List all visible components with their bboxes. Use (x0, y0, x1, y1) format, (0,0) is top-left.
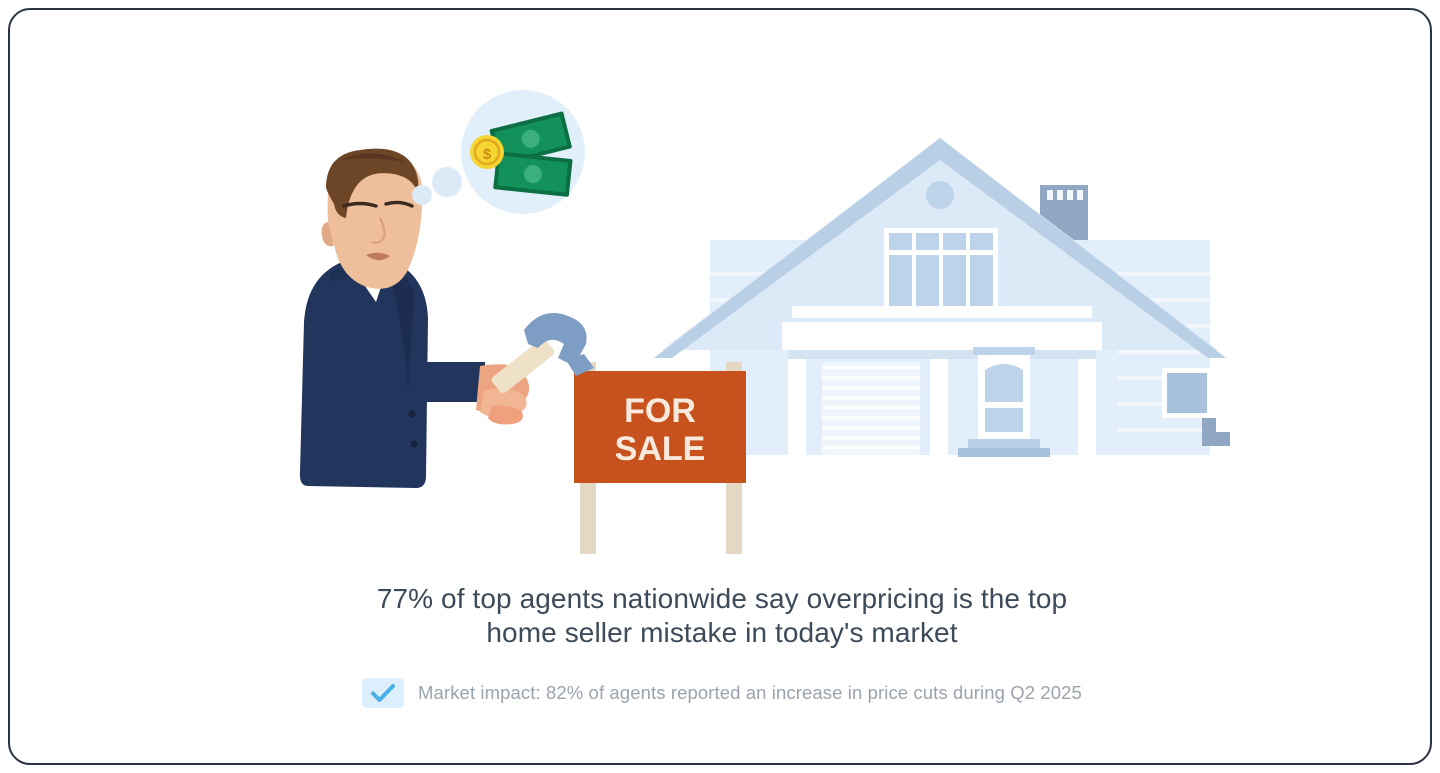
porch-column-right (1078, 359, 1096, 455)
suit-button-top (408, 410, 415, 417)
gold-coin: $ (470, 135, 504, 169)
suit-sleeve (415, 362, 487, 402)
porch-header-band (788, 350, 1096, 359)
front-door (973, 347, 1035, 439)
banknote-lower (493, 151, 573, 197)
porch-column-mid (930, 359, 948, 455)
porch-header-upper (792, 306, 1092, 318)
slide-frame: FOR SALE (8, 8, 1432, 765)
market-impact-caption: Market impact: 82% of agents reported an… (418, 681, 1082, 705)
thought-dot-small (412, 185, 432, 205)
for-sale-sign: FOR SALE (574, 362, 746, 554)
sign-label-line1: FOR (624, 392, 696, 430)
thought-dot-medium (432, 167, 462, 197)
coin-symbol: $ (483, 146, 492, 163)
money-thought-bubble: $ (412, 90, 585, 214)
porch-header-main (782, 322, 1102, 350)
market-impact-row: Market impact: 82% of agents reported an… (10, 678, 1432, 708)
side-window (1162, 368, 1212, 418)
round-attic-vent (926, 181, 954, 209)
page-title: 77% of top agents nationwide say overpri… (10, 582, 1432, 650)
illustration-area: FOR SALE (10, 10, 1432, 570)
suit-button-bottom (410, 440, 417, 447)
side-step-shape (1202, 418, 1230, 446)
dormer-windows (884, 228, 998, 316)
front-steps (958, 439, 1050, 457)
porch-column-left (788, 359, 806, 455)
sign-label-line2: SALE (615, 430, 706, 468)
garage-door (822, 362, 920, 455)
check-icon (362, 678, 404, 708)
